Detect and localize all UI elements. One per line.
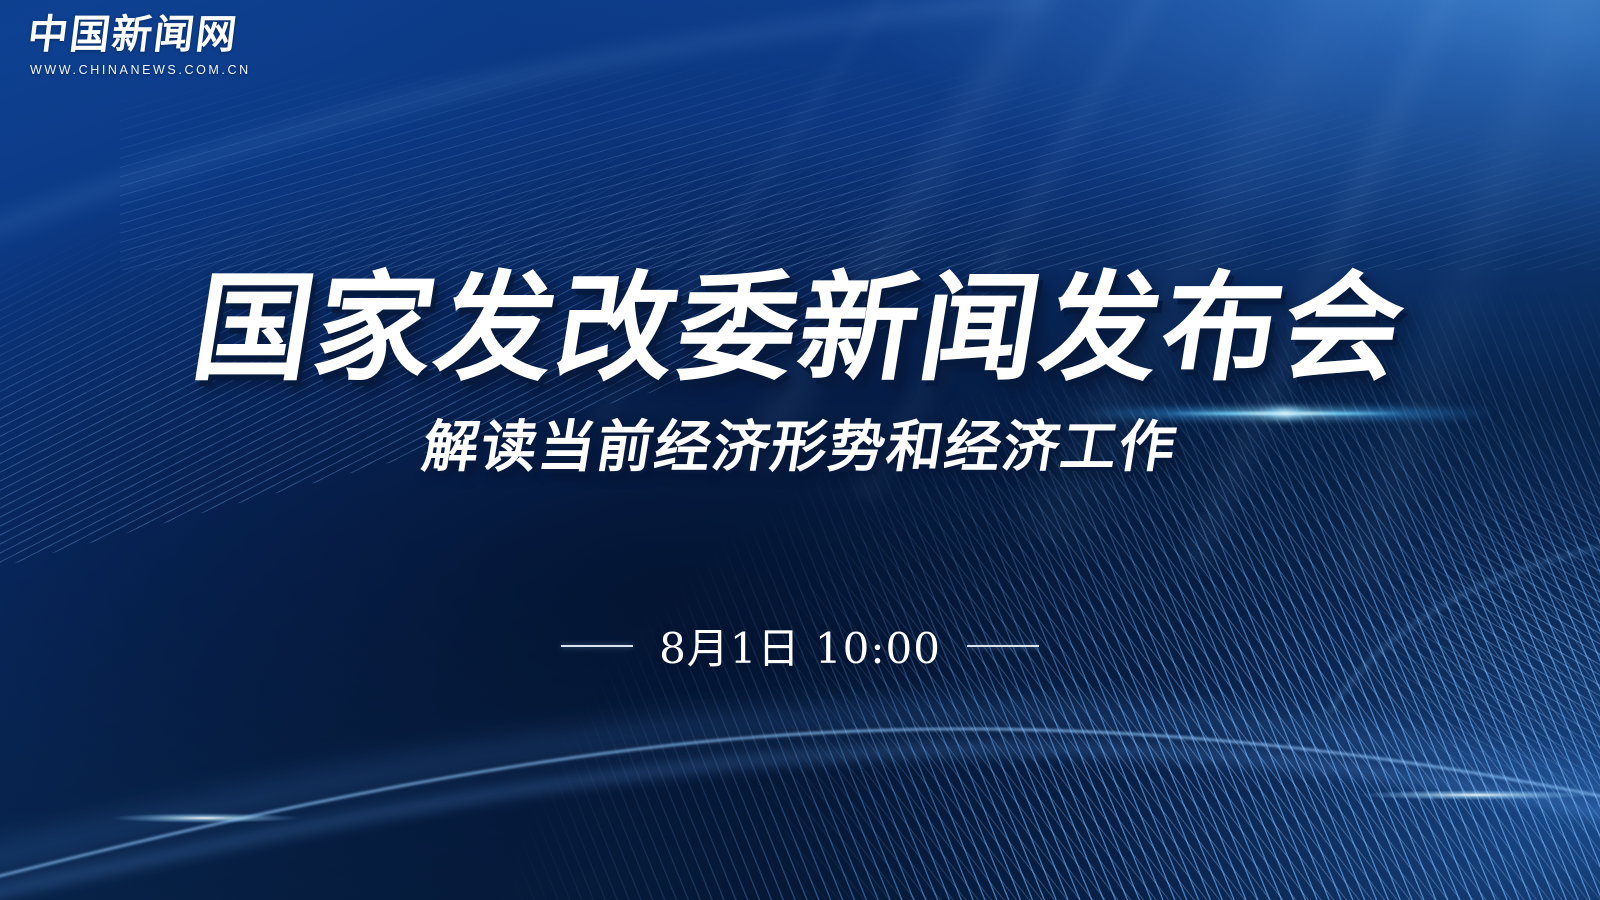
promo-banner: 中国新闻网 WWW.CHINANEWS.COM.CN 国家发改委新闻发布会 解读…: [0, 0, 1600, 900]
hero-text-block: 国家发改委新闻发布会 解读当前经济形势和经济工作: [0, 266, 1600, 479]
event-datetime-row: 8月1日 10:00: [0, 615, 1600, 676]
rule-left: [561, 645, 633, 647]
rule-right: [967, 645, 1039, 647]
chinanews-logo[interactable]: 中国新闻网 WWW.CHINANEWS.COM.CN: [28, 14, 251, 77]
page-subtitle: 解读当前经济形势和经济工作: [418, 417, 1182, 479]
logo-wordmark-chinese: 中国新闻网: [25, 14, 253, 56]
event-datetime: 8月1日 10:00: [659, 615, 941, 676]
page-title: 国家发改委新闻发布会: [185, 266, 1415, 391]
logo-website-url: WWW.CHINANEWS.COM.CN: [30, 63, 251, 77]
